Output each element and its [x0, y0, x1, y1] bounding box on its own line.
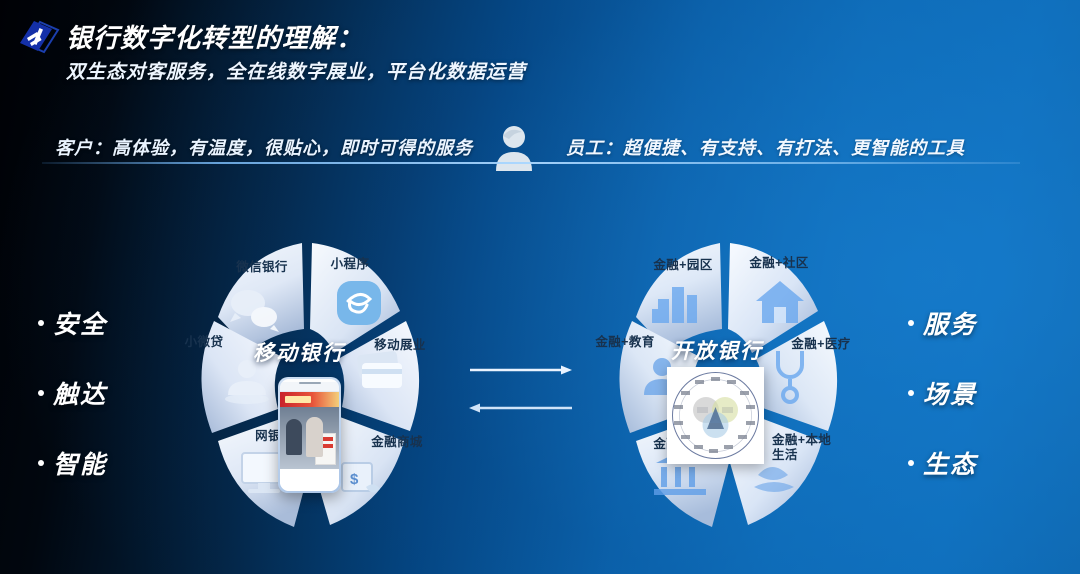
bullet-label: 触达 — [53, 375, 107, 411]
bullet-label: 生态 — [923, 445, 977, 481]
phone-status-bar — [280, 382, 339, 392]
brand-diamond-logo-icon — [14, 18, 62, 60]
smartphone-app-mockup — [278, 377, 341, 493]
petal-label: 微信银行 — [222, 260, 302, 275]
bullet-label: 场景 — [923, 375, 977, 411]
list-item: 服务 — [908, 288, 1028, 358]
right-keyword-list: 服务 场景 生态 — [908, 288, 1028, 498]
phone-banner — [280, 392, 339, 407]
bullet-dot-icon — [38, 320, 44, 326]
svg-text:$: $ — [350, 471, 359, 488]
petal-label: 金融商城 — [357, 435, 437, 450]
petal-label: 小程序 — [317, 257, 383, 272]
bullet-dot-icon — [38, 460, 44, 466]
bank-card-icon — [357, 351, 402, 388]
petal-label: 金融+医疗 — [776, 337, 866, 352]
bullet-label: 服务 — [923, 305, 977, 341]
slide-canvas: 银行数字化转型的理解： 双生态对客服务，全在线数字展业，平台化数据运营 客户：高… — [0, 0, 1080, 574]
page-title: 银行数字化转型的理解： — [66, 18, 363, 55]
phone-content-area — [280, 469, 339, 491]
employee-statement: 员工：超便捷、有支持、有打法、更智能的工具 — [566, 134, 965, 160]
ecosystem-venn-circle-diagram — [667, 367, 764, 464]
petal-label: 移动展业 — [360, 338, 440, 353]
list-item: 生态 — [908, 428, 1028, 498]
bullet-dot-icon — [38, 390, 44, 396]
cluster-center-title: 开放银行 — [671, 335, 763, 365]
customer-statement: 客户：高体验，有温度，很贴心，即时可得的服务 — [55, 134, 473, 160]
petal-label: 金融+本地 生活 — [772, 433, 852, 463]
header-divider — [42, 162, 1020, 164]
petal-label: 金融+社区 — [736, 256, 822, 271]
phone-hero-image — [280, 407, 339, 469]
petal-label: 金融+园区 — [640, 258, 726, 273]
petal-label: 小微贷 — [168, 335, 240, 350]
mini-program-icon — [337, 281, 381, 325]
phone-promo-card — [315, 433, 336, 465]
bullet-label: 安全 — [53, 305, 107, 341]
page-subtitle: 双生态对客服务，全在线数字展业，平台化数据运营 — [66, 57, 526, 84]
cluster-center-title: 移动银行 — [253, 337, 345, 367]
bullet-label: 智能 — [53, 445, 107, 481]
list-item: 场景 — [908, 358, 1028, 428]
petal-label: 金融+教育 — [580, 335, 670, 350]
